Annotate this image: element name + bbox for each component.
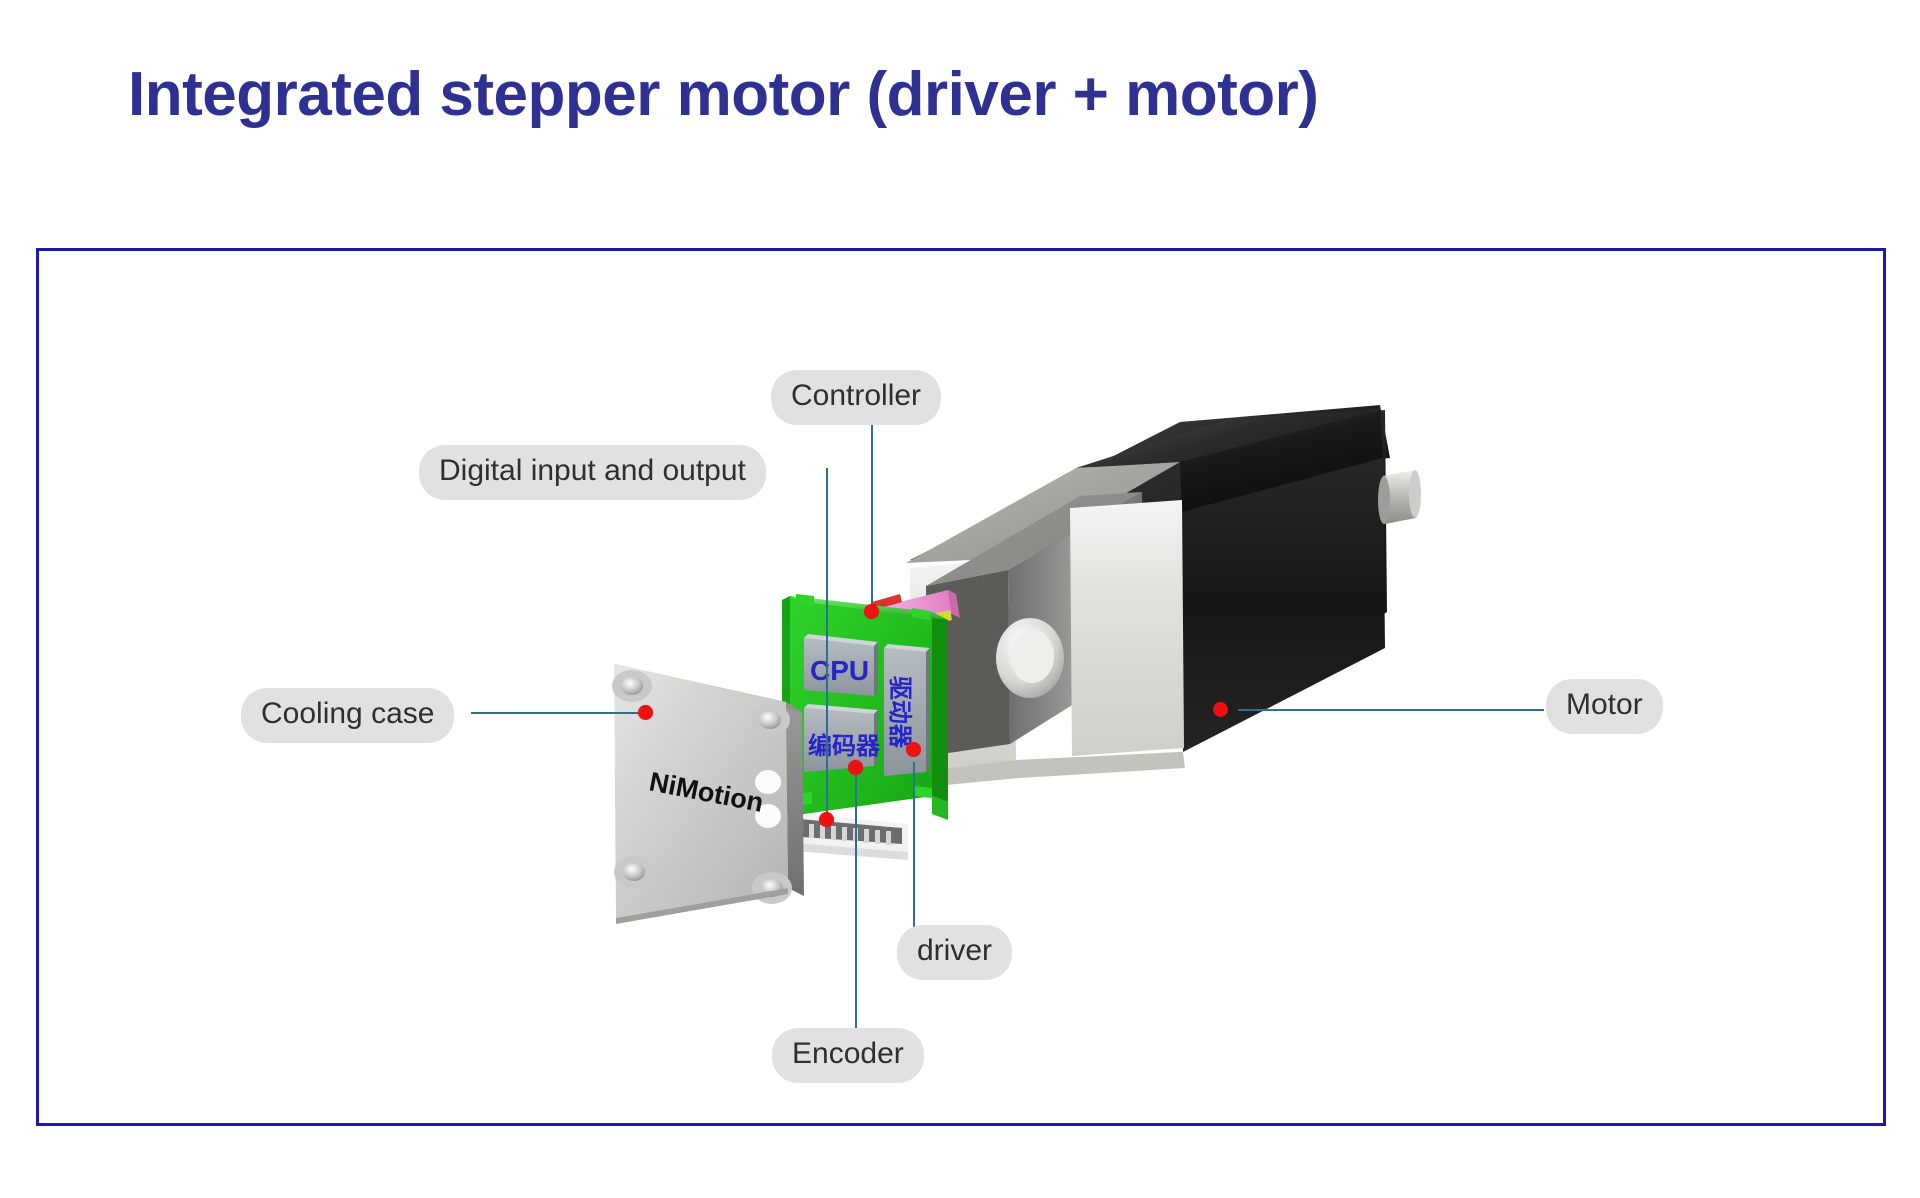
callout-driver[interactable]: driver (897, 925, 1012, 980)
leader-digital-io (826, 468, 828, 819)
callout-digital-io[interactable]: Digital input and output (419, 445, 766, 500)
anchor-dot-motor (1213, 702, 1228, 717)
callout-controller[interactable]: Controller (771, 370, 941, 425)
leader-controller (871, 408, 873, 611)
anchor-dot-digital-io (819, 812, 834, 827)
anchor-dot-driver (906, 742, 921, 757)
leader-driver (913, 762, 915, 928)
callout-cooling-case[interactable]: Cooling case (241, 688, 454, 743)
leader-motor (1238, 709, 1544, 711)
anchor-dot-controller (864, 604, 879, 619)
callout-encoder[interactable]: Encoder (772, 1028, 924, 1083)
leader-encoder (855, 768, 857, 1028)
anchor-dot-encoder (848, 760, 863, 775)
heatsink-plate: NiMotion (590, 640, 830, 920)
driver-chip: 驱动器 (884, 644, 930, 776)
callout-motor[interactable]: Motor (1546, 679, 1663, 734)
leader-cooling-case (471, 712, 643, 714)
diagram-page: Integrated stepper motor (driver + motor… (0, 0, 1920, 1198)
anchor-dot-cooling-case (638, 705, 653, 720)
svg-text:驱动器: 驱动器 (886, 676, 913, 749)
page-title: Integrated stepper motor (driver + motor… (128, 62, 1318, 127)
